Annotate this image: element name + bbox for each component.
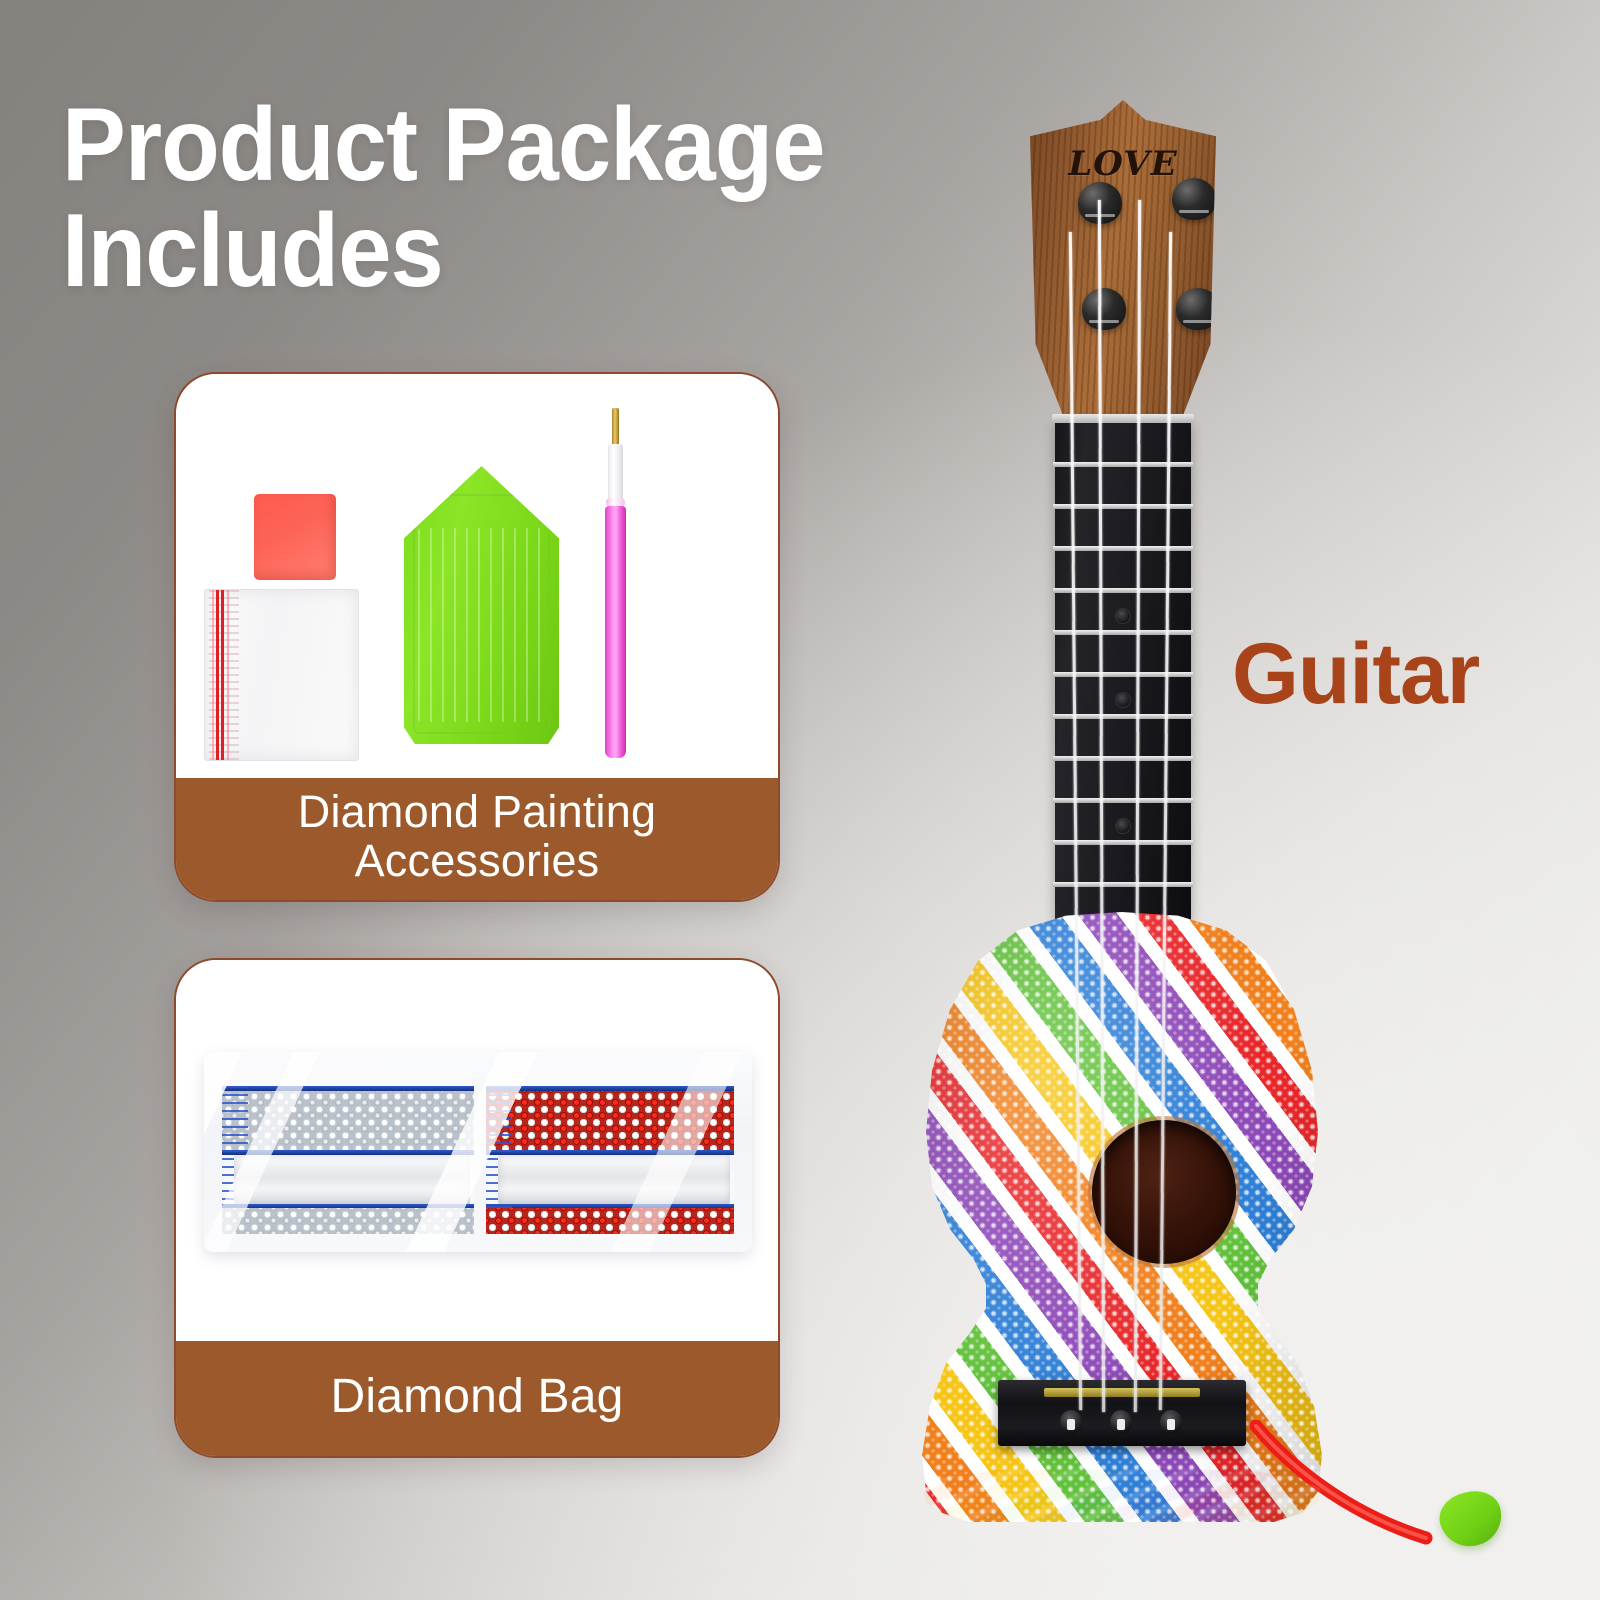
drill-packet-silver [222, 1068, 474, 1236]
foil-label-strip [234, 1155, 470, 1204]
ziplock-bag-icon [204, 589, 359, 761]
foil-label-strip [498, 1155, 730, 1204]
fret-inlay-dot [1115, 692, 1131, 708]
bridge-pin [1060, 1410, 1082, 1434]
fret-inlay-dot [1115, 608, 1131, 624]
drill-packet-red [486, 1068, 734, 1236]
fret [1053, 462, 1193, 467]
drill-tray-icon [404, 466, 559, 744]
tuning-peg [1176, 288, 1220, 330]
pen-ferrule [608, 444, 623, 502]
guitar-pick-icon [1434, 1485, 1507, 1552]
silver-drills-bottom [222, 1208, 474, 1234]
red-drills-bottom [486, 1208, 734, 1234]
zip-seal-top [222, 1086, 474, 1091]
bridge-pin [1110, 1410, 1132, 1434]
guitar-label: Guitar [1232, 625, 1479, 724]
headstock-love-inscription: LOVE [1068, 144, 1177, 184]
tuning-peg [1082, 288, 1126, 330]
accessories-image [176, 374, 778, 782]
outer-plastic-wrap [204, 1052, 752, 1252]
bridge [998, 1380, 1246, 1446]
card-diamond-painting-accessories: Diamond Painting Accessories [174, 372, 780, 902]
bridge-pin [1160, 1410, 1182, 1434]
infographic-canvas: Product Package Includes Diamond Paintin… [0, 0, 1600, 1600]
guitar-product-image: LOVE [880, 80, 1400, 1560]
diamond-bag-caption: Diamond Bag [176, 1341, 778, 1456]
ziplock-stripes [212, 590, 234, 760]
zip-seal-top [486, 1086, 734, 1091]
tuning-peg [1172, 178, 1216, 220]
guitar-reflection [922, 1470, 1322, 1523]
pen-tip [612, 408, 619, 446]
diamond-bag-image [176, 960, 778, 1345]
pen-barrel [605, 506, 626, 758]
saddle [1044, 1388, 1200, 1397]
page-title: Product Package Includes [62, 92, 964, 304]
drill-tray-ribs [418, 528, 545, 722]
accessories-caption: Diamond Painting Accessories [176, 778, 778, 900]
fret-inlay-dot [1115, 818, 1131, 834]
drill-pen-icon [604, 408, 628, 758]
silver-drills-top [222, 1090, 474, 1150]
card-diamond-bag: Diamond Bag [174, 958, 780, 1458]
red-drills-top [486, 1090, 734, 1150]
headstock: LOVE [1030, 100, 1216, 430]
wax-square-icon [254, 494, 336, 580]
